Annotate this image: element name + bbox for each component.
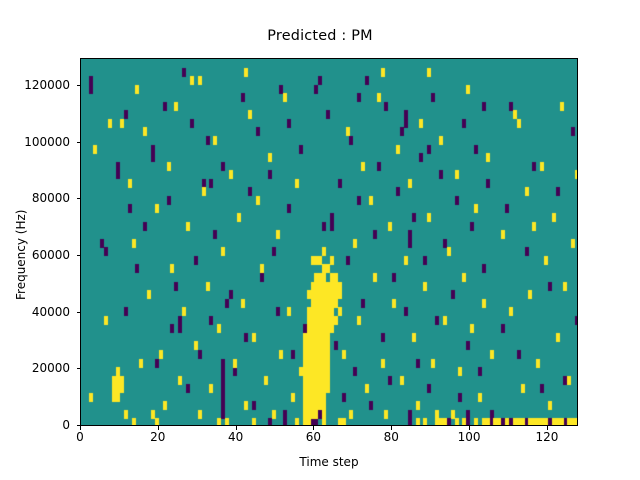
x-tick-label-20: 20 <box>128 431 188 443</box>
y-tick-mark-80000 <box>77 198 81 199</box>
x-tick-mark-60 <box>313 426 314 430</box>
x-tick-label-60: 60 <box>283 431 343 443</box>
y-tick-label-0: 0 <box>0 419 70 431</box>
y-tick-label-100000: 100000 <box>0 136 70 148</box>
y-tick-label-20000: 20000 <box>0 362 70 374</box>
y-tick-mark-20000 <box>77 368 81 369</box>
y-tick-label-80000: 80000 <box>0 192 70 204</box>
y-tick-mark-40000 <box>77 312 81 313</box>
figure: Predicted : PM Frequency (Hz) 0 20000 40… <box>0 0 640 480</box>
y-tick-mark-120000 <box>77 85 81 86</box>
x-tick-mark-80 <box>391 426 392 430</box>
x-tick-label-0: 0 <box>50 431 110 443</box>
x-tick-label-80: 80 <box>361 431 421 443</box>
heatmap-plot-area <box>80 58 578 426</box>
y-tick-label-40000: 40000 <box>0 306 70 318</box>
x-tick-label-100: 100 <box>439 431 499 443</box>
x-tick-label-40: 40 <box>206 431 266 443</box>
x-tick-mark-100 <box>469 426 470 430</box>
x-axis-label: Time step <box>80 455 578 469</box>
x-tick-label-120: 120 <box>517 431 577 443</box>
chart-title: Predicted : PM <box>0 28 640 44</box>
x-tick-mark-120 <box>547 426 548 430</box>
y-tick-label-120000: 120000 <box>0 79 70 91</box>
heatmap-canvas <box>81 59 578 426</box>
x-tick-mark-0 <box>80 426 81 430</box>
x-tick-mark-20 <box>158 426 159 430</box>
y-tick-label-60000: 60000 <box>0 249 70 261</box>
x-tick-mark-40 <box>236 426 237 430</box>
y-tick-mark-100000 <box>77 142 81 143</box>
y-tick-mark-60000 <box>77 255 81 256</box>
